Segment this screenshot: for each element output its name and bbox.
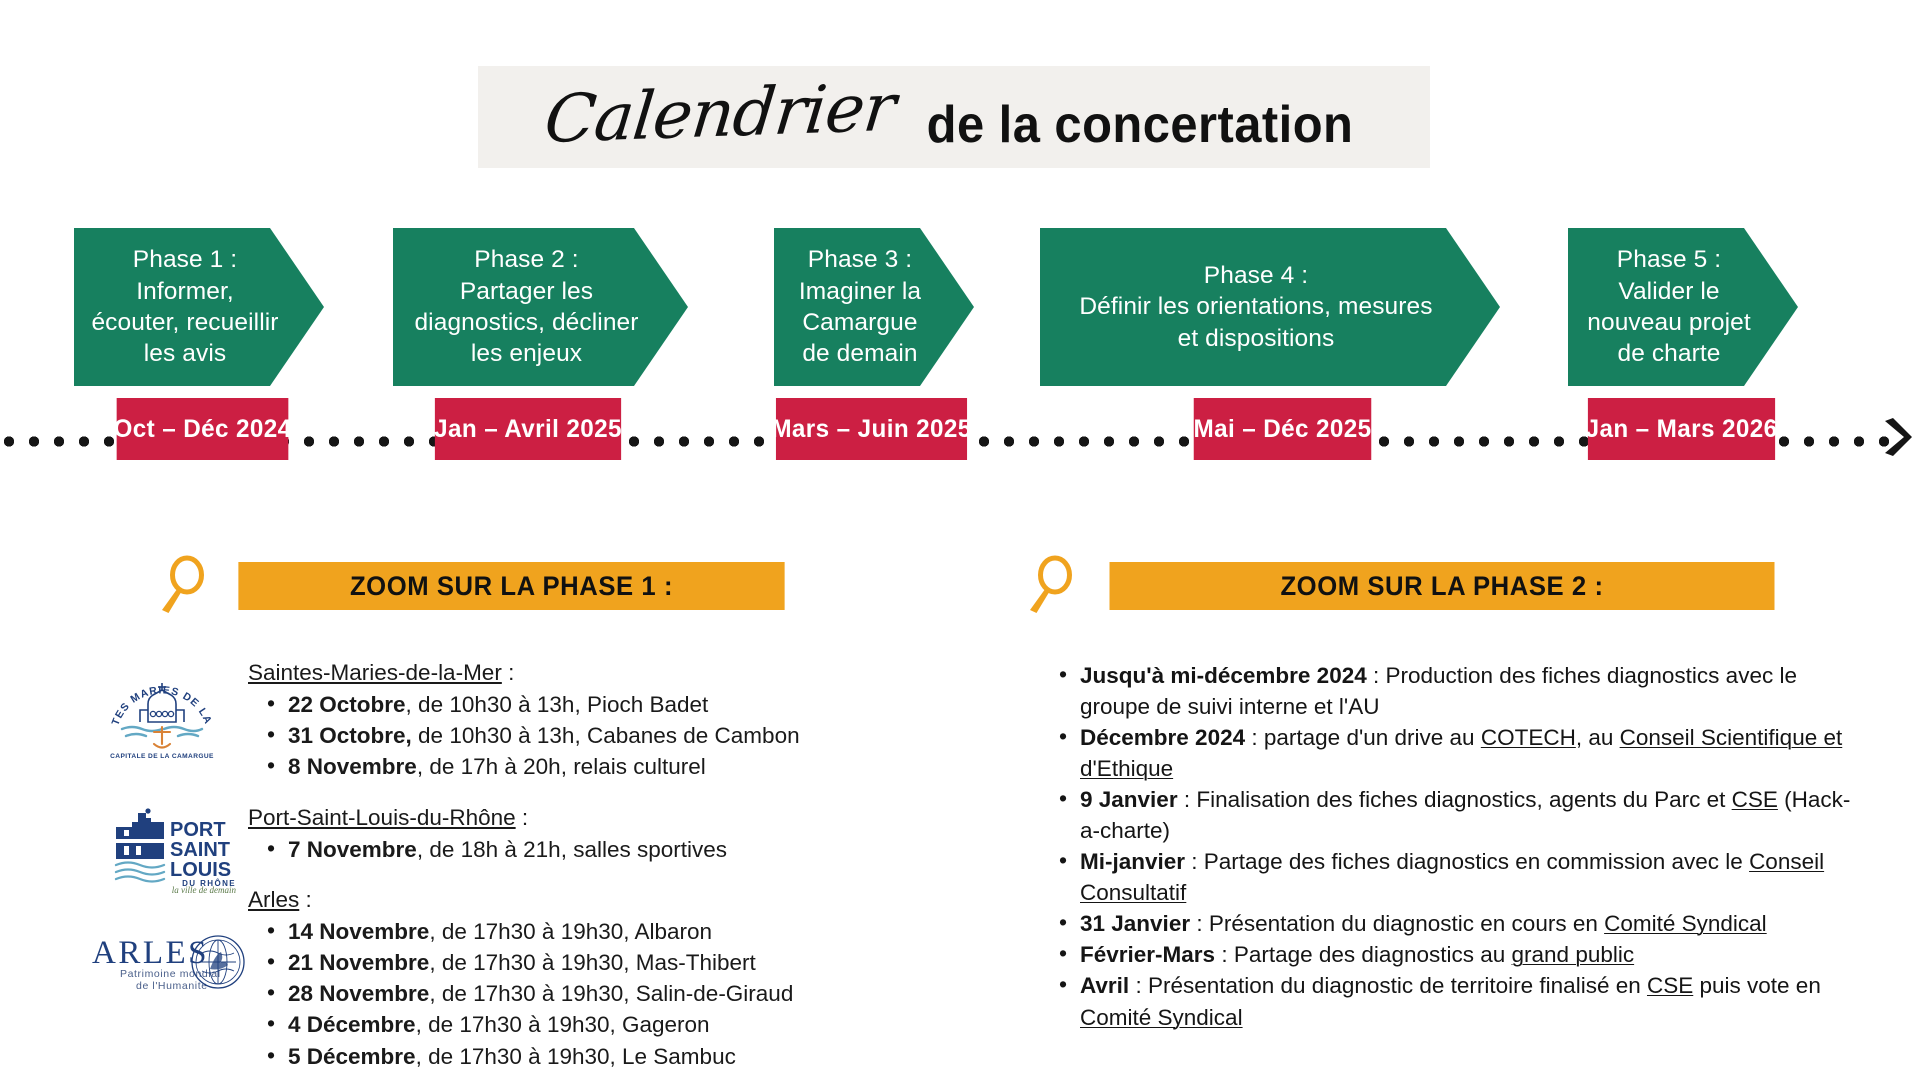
milestone-text: : Finalisation des fiches diagnostics, a… <box>1178 787 1732 812</box>
zoom-banner-label: ZOOM SUR LA PHASE 2 : <box>1280 571 1603 602</box>
phase-arrow-label: Phase 3 : Imaginer la Camargue de demain <box>799 244 921 369</box>
timeline-date-badge-1: Oct – Déc 2024 <box>117 398 289 460</box>
milestone-date: Jusqu'à mi-décembre 2024 <box>1080 663 1367 688</box>
milestone-term: CSE <box>1647 973 1693 998</box>
milestone-date: 31 Janvier <box>1080 911 1190 936</box>
milestone-text: : Présentation du diagnostic de territoi… <box>1129 973 1647 998</box>
phase-arrow-2: Phase 2 : Partager les diagnostics, décl… <box>393 228 688 386</box>
zoom-section-phase-2: ZOOM SUR LA PHASE 2 : Jusqu'à mi-décembr… <box>0 555 1920 1075</box>
timeline-date-label: Mars – Juin 2025 <box>771 415 971 444</box>
timeline-date-label: Jan – Avril 2025 <box>434 415 622 444</box>
timeline-date-badge-3: Mars – Juin 2025 <box>776 398 967 460</box>
magnifier-icon <box>1018 555 1080 617</box>
phase-arrow-1: Phase 1 : Informer, écouter, recueillir … <box>74 228 324 386</box>
zoom-header-phase-2: ZOOM SUR LA PHASE 2 : <box>1018 555 1792 617</box>
milestone-text: : Présentation du diagnostic en cours en <box>1190 911 1604 936</box>
milestone-term: Comité Syndical <box>1604 911 1767 936</box>
timeline-date-badge-5: Jan – Mars 2026 <box>1588 398 1775 460</box>
milestone-term: CSE <box>1732 787 1778 812</box>
milestone-item: Février-Mars : Partage des diagnostics a… <box>1080 939 1870 970</box>
phase-arrow-label: Phase 2 : Partager les diagnostics, décl… <box>414 244 638 369</box>
milestone-item: 31 Janvier : Présentation du diagnostic … <box>1080 908 1870 939</box>
milestone-item: Avril : Présentation du diagnostic de te… <box>1080 970 1870 1032</box>
milestone-item: Jusqu'à mi-décembre 2024 : Production de… <box>1080 660 1870 722</box>
chevron-right-icon <box>1882 418 1912 456</box>
milestone-text: puis vote en <box>1693 973 1821 998</box>
phase-arrow-label: Phase 1 : Informer, écouter, recueillir … <box>91 244 278 369</box>
milestone-term: Comité Syndical <box>1080 1005 1243 1030</box>
timeline-date-badge-2: Jan – Avril 2025 <box>435 398 621 460</box>
page-title-script: Calendrier <box>541 68 905 157</box>
milestone-text: : Partage des diagnostics au <box>1215 942 1511 967</box>
title-banner: Calendrier de la concertation <box>478 66 1430 168</box>
page-title-bold: de la concertation <box>927 95 1354 155</box>
milestone-term: COTECH <box>1481 725 1576 750</box>
milestone-date: Février-Mars <box>1080 942 1215 967</box>
phase-arrow-4: Phase 4 : Définir les orientations, mesu… <box>1040 228 1500 386</box>
milestone-text: , au <box>1576 725 1620 750</box>
milestone-term: grand public <box>1512 942 1635 967</box>
timeline-row: Oct – Déc 2024Jan – Avril 2025Mars – Jui… <box>0 398 1920 488</box>
milestone-item: 9 Janvier : Finalisation des fiches diag… <box>1080 784 1870 846</box>
timeline-date-label: Mai – Déc 2025 <box>1194 415 1372 444</box>
timeline-date-badge-4: Mai – Déc 2025 <box>1194 398 1372 460</box>
phase-arrow-5: Phase 5 : Valider le nouveau projet de c… <box>1568 228 1798 386</box>
milestone-date: Décembre 2024 <box>1080 725 1245 750</box>
phase-arrow-label: Phase 5 : Valider le nouveau projet de c… <box>1587 244 1751 369</box>
milestone-date: 9 Janvier <box>1080 787 1178 812</box>
zoom-body-phase-2: Jusqu'à mi-décembre 2024 : Production de… <box>1040 660 1870 1033</box>
milestone-date: Avril <box>1080 973 1129 998</box>
milestone-text: : partage d'un drive au <box>1245 725 1481 750</box>
milestone-date: Mi-janvier <box>1080 849 1185 874</box>
title-inner: Calendrier de la concertation <box>541 81 1367 158</box>
phase-arrow-label: Phase 4 : Définir les orientations, mesu… <box>1079 260 1432 354</box>
timeline-date-label: Jan – Mars 2026 <box>1586 415 1778 444</box>
phase-arrow-row: Phase 1 : Informer, écouter, recueillir … <box>0 228 1920 386</box>
phase-arrow-3: Phase 3 : Imaginer la Camargue de demain <box>774 228 974 386</box>
milestone-item: Décembre 2024 : partage d'un drive au CO… <box>1080 722 1870 784</box>
milestone-text: : Partage des fiches diagnostics en comm… <box>1185 849 1749 874</box>
milestone-item: Mi-janvier : Partage des fiches diagnost… <box>1080 846 1870 908</box>
timeline-date-label: Oct – Déc 2024 <box>114 415 292 444</box>
zoom-banner-phase-2: ZOOM SUR LA PHASE 2 : <box>1110 562 1775 610</box>
